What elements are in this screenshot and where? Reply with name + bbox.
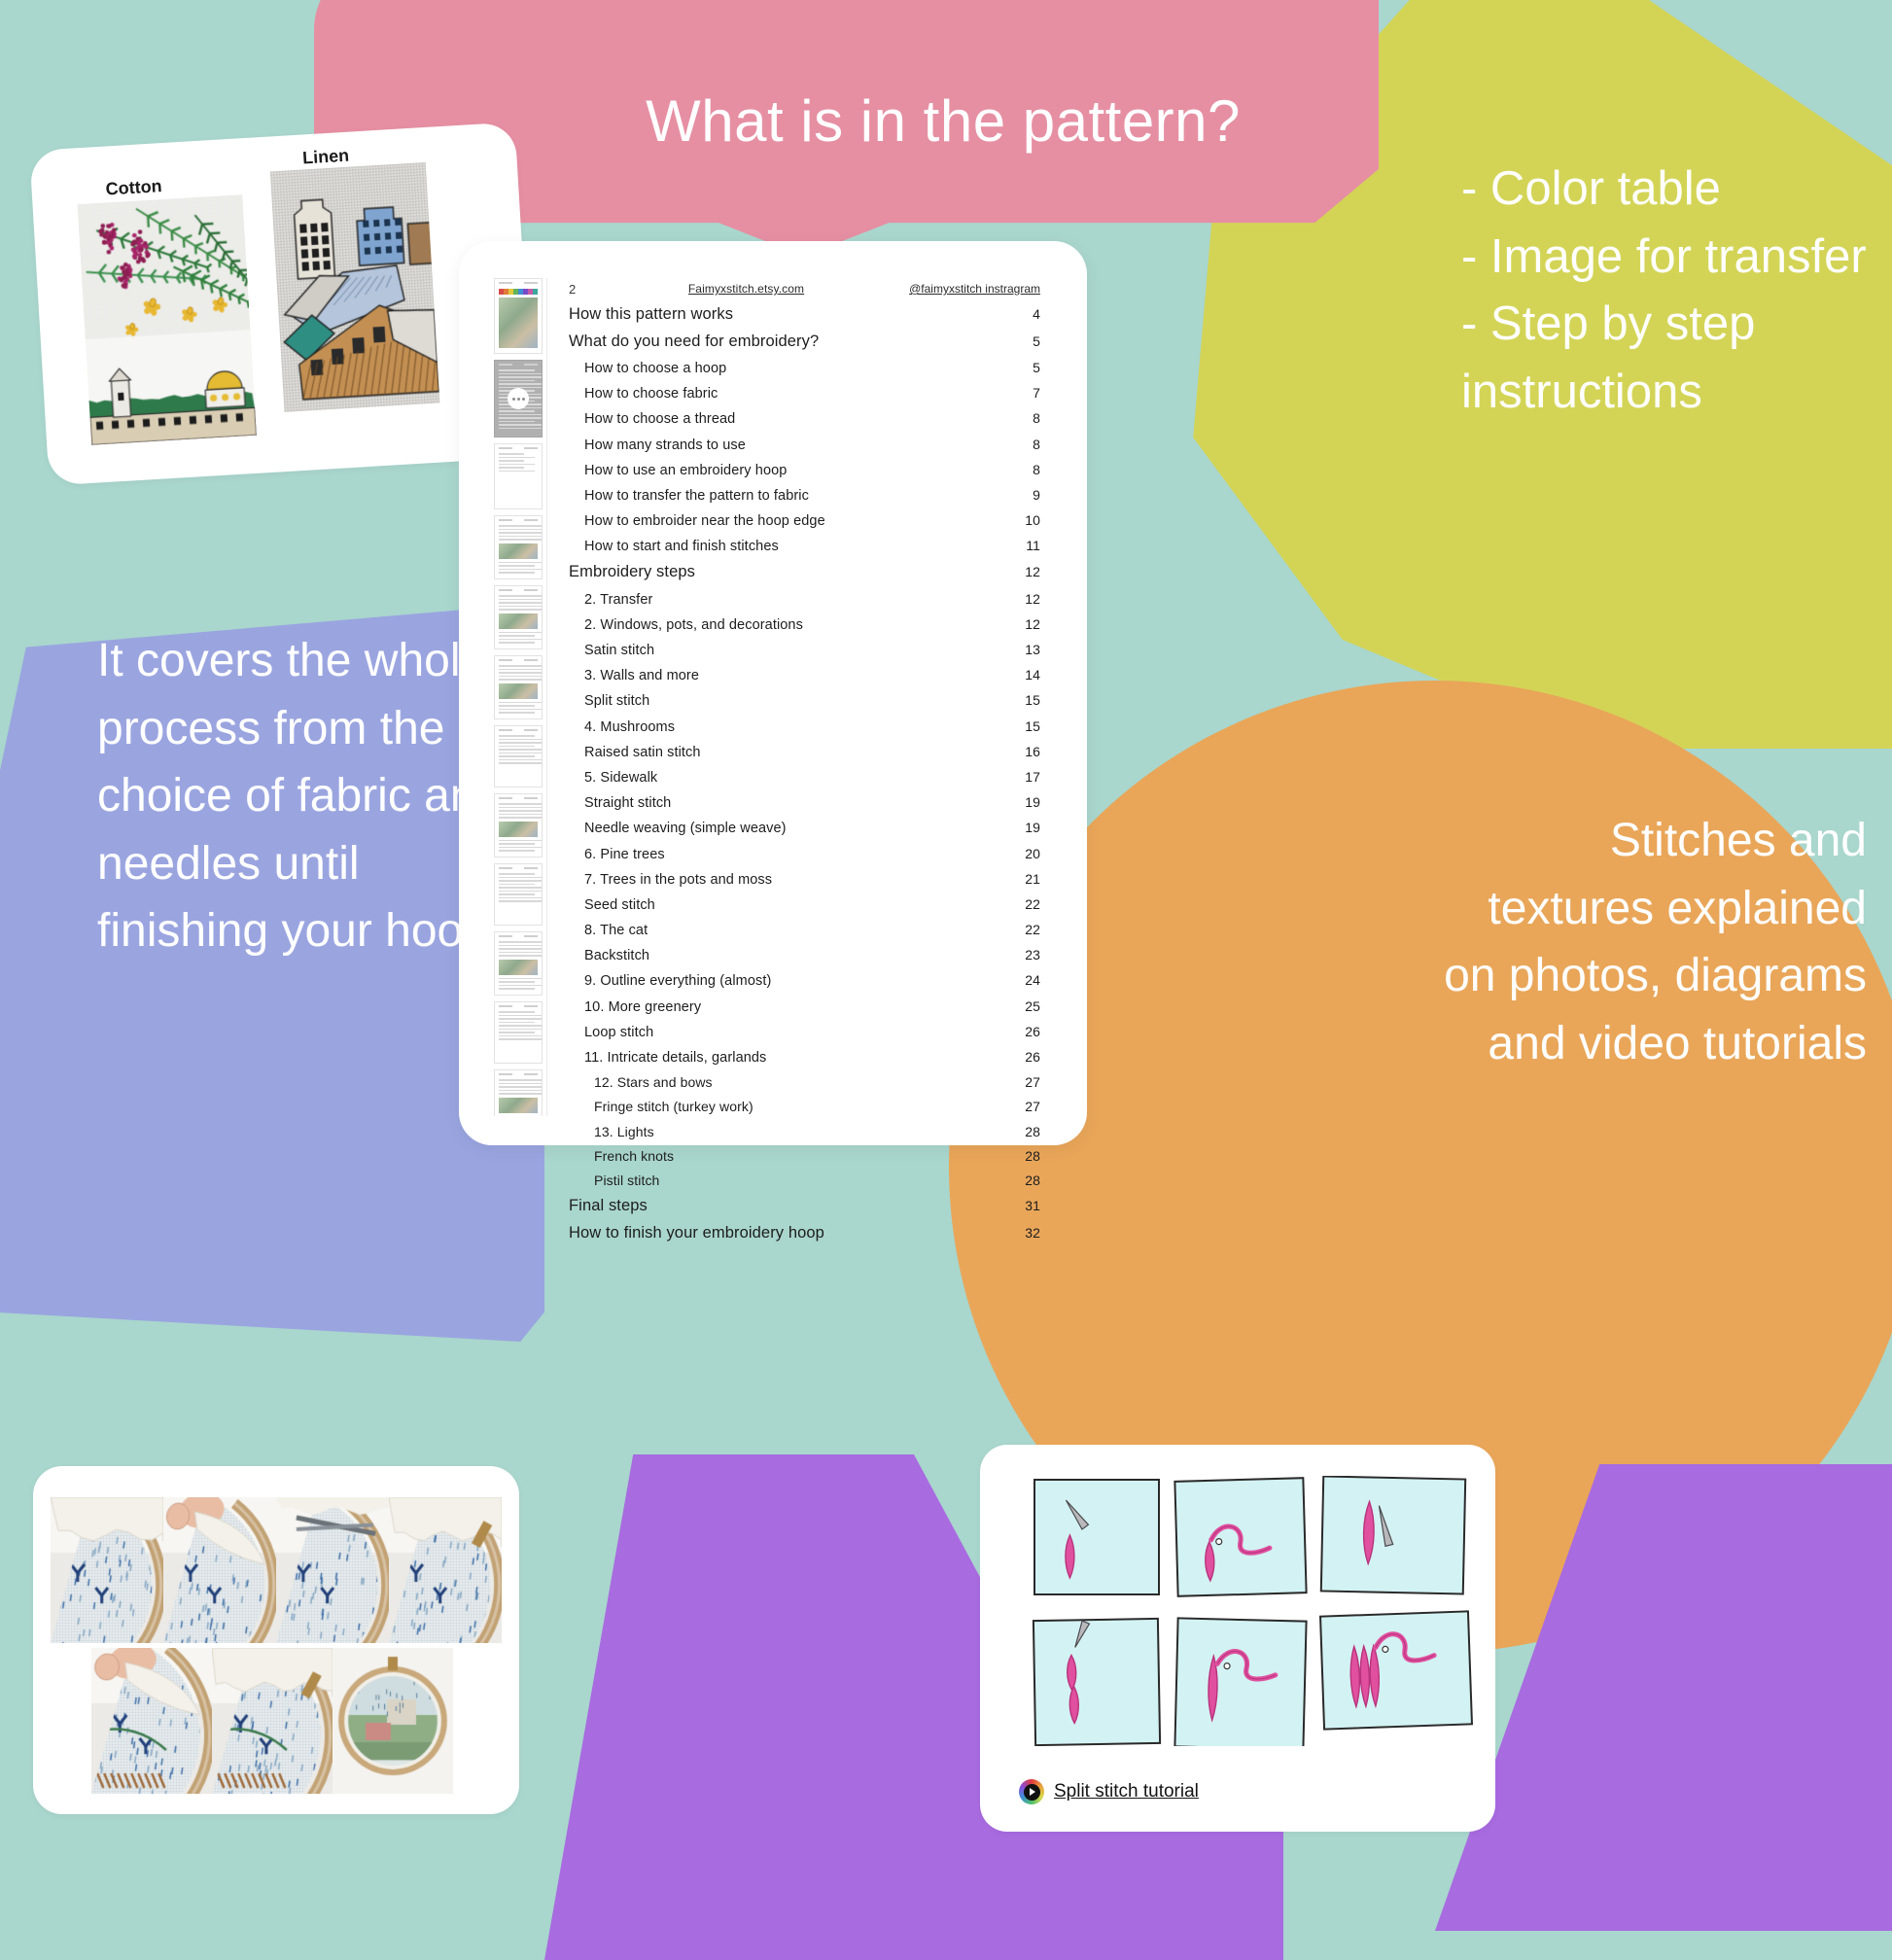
toc-page: 20 [1015,846,1040,861]
stitch-step-5 [1174,1618,1306,1746]
toc-title: Final steps [569,1197,648,1215]
feature-list-item-2: - Step by step instructions [1461,291,1870,426]
toc-page: 22 [1015,922,1040,937]
toc-title: Pistil stitch [594,1172,659,1188]
toc-row[interactable]: How to choose a hoop5 [569,355,1040,380]
toc-title: 5. Sidewalk [584,770,657,786]
page-thumbnail[interactable] [494,793,543,857]
toc-title: Split stitch [584,693,649,709]
toc-page: 24 [1015,972,1040,988]
toc-row[interactable]: 5. Sidewalk17 [569,764,1040,789]
toc-row[interactable]: What do you need for embroidery?5 [569,328,1040,355]
toc-row[interactable]: How to finish your embroidery hoop32 [569,1220,1040,1247]
page-thumbnail[interactable] [494,360,543,437]
toc-row[interactable]: French knots28 [569,1143,1040,1168]
toc-title: 4. Mushrooms [584,719,675,735]
toc-page: 32 [1015,1225,1040,1241]
etsy-shop-link[interactable]: Faimyxstitch.etsy.com [637,282,856,296]
stitch-step-4 [1034,1619,1160,1745]
finished-hoop-photo [333,1648,453,1799]
page-thumbnail[interactable] [494,585,543,649]
toc-page: 4 [1023,306,1040,322]
toc-page: 19 [1015,794,1040,810]
toc-page: 22 [1015,896,1040,912]
finishing-photos-grid [51,1497,502,1789]
toc-row[interactable]: Final steps31 [569,1193,1040,1220]
page-thumbnail[interactable] [494,1001,543,1064]
toc-row[interactable]: Seed stitch22 [569,892,1040,917]
toc-page: 16 [1015,744,1040,759]
toc-title: 11. Intricate details, garlands [584,1050,766,1066]
toc-row[interactable]: How to choose a thread8 [569,406,1040,432]
toc-page: 23 [1015,947,1040,962]
toc-page: 17 [1015,769,1040,785]
fabric-label-cotton: Cotton [105,176,162,199]
toc-title: How this pattern works [569,305,733,324]
toc-page: 15 [1015,718,1040,734]
page-thumbnail[interactable] [494,863,543,926]
feature-list-item-1: - Image for transfer [1461,224,1870,292]
process-photo [212,1648,333,1799]
fabric-label-linen: Linen [302,146,350,169]
toc-page: 28 [1015,1172,1040,1188]
toc-title: 12. Stars and bows [594,1074,713,1090]
toc-page: 8 [1023,462,1040,477]
toc-title: 6. Pine trees [584,847,665,862]
toc-page: 8 [1023,437,1040,452]
toc-title: French knots [594,1148,674,1164]
stitch-step-grid [1031,1476,1478,1746]
toc-row[interactable]: How this pattern works4 [569,300,1040,328]
process-photo [163,1497,276,1648]
toc-page: 12 [1015,616,1040,632]
page-thumbnail[interactable] [494,1069,543,1116]
toc-page: 28 [1015,1148,1040,1164]
feature-list-item-0: - Color table [1461,156,1870,224]
stitches-description: Stitches and textures explained on photo… [1439,807,1867,1077]
page-thumbnail[interactable] [494,725,543,787]
toc-title: Fringe stitch (turkey work) [594,1099,753,1114]
tutorial-link-row[interactable]: Split stitch tutorial [1019,1779,1199,1804]
linen-sample-photo [270,162,439,412]
stitch-diagram-card: Split stitch tutorial [980,1445,1495,1832]
toc-row[interactable]: 9. Outline everything (almost)24 [569,968,1040,994]
toc-title: 2. Transfer [584,592,652,608]
toc-row[interactable]: 11. Intricate details, garlands26 [569,1044,1040,1069]
toc-page: 25 [1015,998,1040,1014]
stitch-step-1 [1034,1480,1159,1594]
photo-row-bottom [91,1648,502,1799]
process-photo [276,1497,389,1648]
toc-page: 14 [1015,667,1040,682]
youtube-play-icon [1019,1779,1044,1804]
toc-title: 3. Walls and more [584,668,699,683]
page-thumbnail[interactable] [494,515,543,579]
page-title: What is in the pattern? [544,87,1342,155]
toc-row[interactable]: How to use an embroidery hoop8 [569,457,1040,482]
toc-row[interactable]: Embroidery steps12 [569,559,1040,586]
page-thumbnail-rail[interactable] [490,278,547,1116]
document-page: 2 Faimyxstitch.etsy.com @faimyxstitch in… [547,278,1052,1116]
toc-page: 13 [1015,642,1040,657]
toc-page: 11 [1016,538,1040,553]
toc-row[interactable]: 7. Trees in the pots and moss21 [569,866,1040,892]
toc-row[interactable]: 3. Walls and more14 [569,663,1040,688]
toc-title: What do you need for embroidery? [569,332,819,351]
page-thumbnail[interactable] [494,278,543,354]
process-photo [389,1497,502,1648]
toc-page: 27 [1015,1099,1040,1114]
page-thumbnail[interactable] [494,931,543,996]
toc-title: Satin stitch [584,643,654,658]
toc-title: How to use an embroidery hoop [584,463,787,478]
page-thumbnail[interactable] [494,443,543,509]
instagram-link[interactable]: @faimyxstitch instragram [856,282,1040,296]
stitch-steps-svg [1031,1476,1478,1746]
tutorial-link-label[interactable]: Split stitch tutorial [1054,1781,1199,1802]
toc-page: 7 [1023,385,1040,401]
toc-page: 28 [1015,1124,1040,1139]
toc-title: How to start and finish stitches [584,539,779,554]
toc-title: 2. Windows, pots, and decorations [584,617,803,633]
toc-row[interactable]: 10. More greenery25 [569,994,1040,1019]
pattern-preview-card: 2 Faimyxstitch.etsy.com @faimyxstitch in… [459,241,1087,1145]
toc-row[interactable]: Raised satin stitch16 [569,739,1040,764]
toc-page: 26 [1015,1024,1040,1039]
toc-row[interactable]: Needle weaving (simple weave)19 [569,816,1040,841]
more-options-icon[interactable] [508,388,529,409]
toc-row[interactable]: How to choose fabric7 [569,381,1040,406]
toc-title: How to finish your embroidery hoop [569,1224,824,1242]
toc-row[interactable]: Satin stitch13 [569,637,1040,662]
toc-row[interactable]: How to transfer the pattern to fabric9 [569,482,1040,507]
toc-page: 8 [1023,410,1040,426]
toc-title: How to choose fabric [584,386,718,402]
toc-page: 15 [1015,692,1040,708]
toc-row[interactable]: Fringe stitch (turkey work)27 [569,1095,1040,1119]
toc-row[interactable]: 8. The cat22 [569,918,1040,943]
feature-list: - Color table - Image for transfer - Ste… [1461,156,1870,426]
toc-title: 7. Trees in the pots and moss [584,872,772,888]
toc-row[interactable]: Straight stitch19 [569,790,1040,816]
toc-page: 31 [1015,1198,1040,1213]
toc-page: 5 [1023,360,1040,375]
toc-row[interactable]: How to start and finish stitches11 [569,534,1040,559]
cotton-sample-photo [78,194,257,445]
process-photo [91,1648,212,1799]
toc-title: Loop stitch [584,1025,653,1040]
toc-row[interactable]: 2. Transfer12 [569,586,1040,612]
toc-page: 27 [1015,1074,1040,1090]
process-photo [51,1497,163,1648]
toc-row[interactable]: How to embroider near the hoop edge10 [569,508,1040,534]
page-number: 2 [569,282,637,297]
photo-row-top [51,1497,502,1648]
toc-page: 19 [1015,820,1040,835]
toc-title: How many strands to use [584,437,746,453]
toc-page: 10 [1015,512,1040,528]
toc-row[interactable]: Loop stitch26 [569,1019,1040,1044]
toc-title: Straight stitch [584,795,671,811]
toc-title: 9. Outline everything (almost) [584,973,771,989]
toc-page: 12 [1015,591,1040,607]
toc-page: 5 [1023,333,1040,349]
toc-row[interactable]: How many strands to use8 [569,432,1040,457]
table-of-contents: How this pattern works4What do you need … [569,300,1040,1247]
stitch-step-2 [1174,1478,1306,1596]
poster-canvas: What is in the pattern? - Color table - … [0,0,1892,1892]
toc-page: 21 [1015,871,1040,887]
toc-title: 8. The cat [584,923,648,938]
toc-title: Raised satin stitch [584,745,701,760]
toc-title: How to choose a thread [584,411,735,427]
toc-row[interactable]: 6. Pine trees20 [569,841,1040,866]
toc-title: How to embroider near the hoop edge [584,513,825,529]
toc-title: 13. Lights [594,1124,654,1139]
toc-row[interactable]: 12. Stars and bows27 [569,1070,1040,1095]
toc-row[interactable]: Backstitch23 [569,943,1040,968]
toc-page: 9 [1023,487,1040,503]
toc-row[interactable]: 4. Mushrooms15 [569,714,1040,739]
document-header: 2 Faimyxstitch.etsy.com @faimyxstitch in… [569,282,1040,297]
stitch-step-6 [1320,1611,1472,1729]
toc-title: How to transfer the pattern to fabric [584,488,809,504]
toc-page: 26 [1015,1049,1040,1065]
stitch-step-3 [1321,1476,1465,1593]
document-body: 2 Faimyxstitch.etsy.com @faimyxstitch in… [490,278,1052,1116]
toc-title: 10. More greenery [584,999,701,1015]
page-thumbnail[interactable] [494,655,543,719]
toc-row[interactable]: 13. Lights28 [569,1119,1040,1143]
toc-title: Backstitch [584,948,649,963]
process-description: It covers the whole process from the cho… [97,627,506,965]
toc-title: Embroidery steps [569,563,695,581]
toc-row[interactable]: Split stitch15 [569,688,1040,714]
toc-row[interactable]: 2. Windows, pots, and decorations12 [569,612,1040,637]
toc-title: Needle weaving (simple weave) [584,821,787,836]
toc-title: How to choose a hoop [584,361,726,376]
toc-page: 12 [1015,564,1040,579]
finishing-photos-card [33,1466,519,1814]
toc-row[interactable]: Pistil stitch28 [569,1168,1040,1192]
toc-title: Seed stitch [584,897,655,913]
